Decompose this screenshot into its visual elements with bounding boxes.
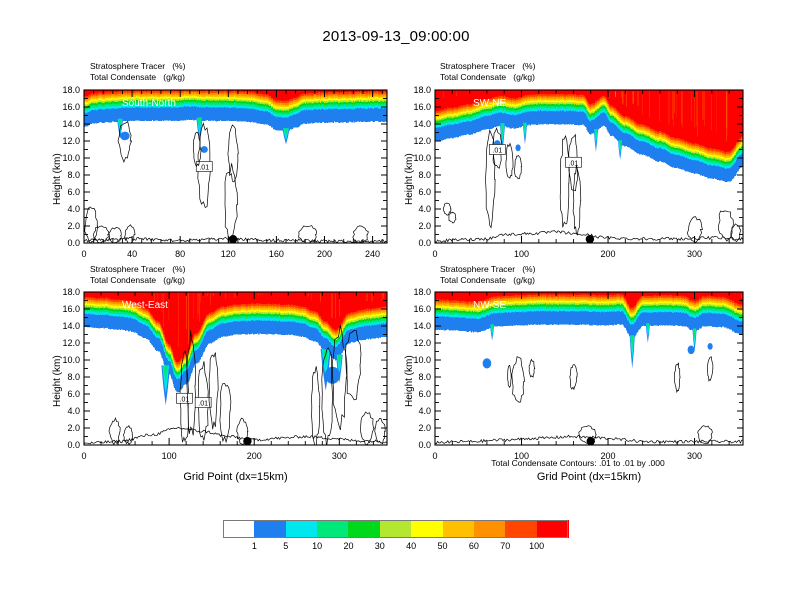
x-tick-label: 100	[514, 249, 529, 259]
header-condensate-line: Total Condensate (g/kg)	[440, 72, 535, 83]
y-tick-label: 12.0	[62, 338, 80, 348]
colorbar-tick-label: 100	[522, 541, 552, 551]
y-tick-label: 16.0	[62, 304, 80, 314]
colorbar-tick-label: 40	[396, 541, 426, 551]
y-tick-label: 0.0	[418, 440, 431, 450]
page-title: 2013-09-13_09:00:00	[0, 28, 792, 45]
site-marker	[229, 235, 237, 243]
y-tick-label: 10.0	[413, 153, 431, 163]
panel-plot-sw-ne: .01.010.02.04.06.08.010.012.014.016.018.…	[395, 84, 749, 259]
panel-header-sw-ne: Stratosphere Tracer (%)Total Condensate …	[440, 61, 535, 82]
y-tick-label: 6.0	[418, 187, 431, 197]
tracer-field: .01.01	[435, 88, 744, 243]
contour-value-label: .01	[492, 148, 502, 155]
y-tick-label: 14.0	[62, 321, 80, 331]
x-axis-label: Grid Point (dx=15km)	[156, 471, 316, 483]
y-tick-label: 14.0	[413, 321, 431, 331]
panel-label-south-north: South-North	[122, 98, 176, 109]
panel-label-nw-se: NW-SE	[473, 300, 506, 311]
y-tick-label: 12.0	[62, 136, 80, 146]
panel-plot-south-north: .010.02.04.06.08.010.012.014.016.018.004…	[44, 84, 393, 259]
y-tick-label: 16.0	[62, 102, 80, 112]
colorbar-frame	[223, 520, 568, 538]
colorbar-tick-label: 10	[302, 541, 332, 551]
colorbar-tick-label: 30	[365, 541, 395, 551]
contour-value-label: .01	[199, 165, 209, 172]
tracer-field	[435, 290, 744, 445]
x-tick-label: 80	[175, 249, 185, 259]
tracer-field: .01.01	[84, 290, 388, 447]
x-tick-label: 160	[269, 249, 284, 259]
x-tick-label: 300	[687, 451, 702, 461]
header-tracer-line: Stratosphere Tracer (%)	[440, 264, 535, 275]
x-tick-label: 240	[365, 249, 380, 259]
y-tick-label: 2.0	[418, 221, 431, 231]
y-tick-label: 8.0	[418, 170, 431, 180]
colorbar: 1510203040506070100	[223, 520, 568, 560]
panel-header-west-east: Stratosphere Tracer (%)Total Condensate …	[90, 264, 185, 285]
x-tick-label: 300	[332, 451, 347, 461]
x-tick-label: 120	[221, 249, 236, 259]
header-condensate-line: Total Condensate (g/kg)	[440, 275, 535, 286]
site-marker	[586, 235, 594, 243]
header-tracer-line: Stratosphere Tracer (%)	[440, 61, 535, 72]
y-tick-label: 16.0	[413, 102, 431, 112]
x-tick-label: 0	[81, 249, 86, 259]
colorbar-tick-label: 70	[490, 541, 520, 551]
x-tick-label: 200	[601, 249, 616, 259]
y-tick-label: 0.0	[67, 440, 80, 450]
y-tick-label: 16.0	[413, 304, 431, 314]
panel-plot-nw-se: 0.02.04.06.08.010.012.014.016.018.001002…	[395, 286, 749, 461]
x-axis-label: Grid Point (dx=15km)	[509, 471, 669, 483]
tracer-field: .01	[84, 88, 388, 246]
x-tick-label: 200	[317, 249, 332, 259]
panel-header-south-north: Stratosphere Tracer (%)Total Condensate …	[90, 61, 185, 82]
contour-value-label: .01	[198, 401, 208, 408]
y-tick-label: 18.0	[413, 287, 431, 297]
header-tracer-line: Stratosphere Tracer (%)	[90, 264, 185, 275]
y-tick-label: 0.0	[418, 238, 431, 248]
panel-label-west-east: West-East	[122, 300, 168, 311]
y-tick-label: 6.0	[418, 389, 431, 399]
colorbar-tick-label: 1	[239, 541, 269, 551]
x-tick-label: 0	[432, 451, 437, 461]
y-tick-label: 12.0	[413, 338, 431, 348]
x-tick-label: 0	[81, 451, 86, 461]
header-condensate-line: Total Condensate (g/kg)	[90, 72, 185, 83]
y-tick-label: 4.0	[418, 406, 431, 416]
y-tick-label: 8.0	[418, 372, 431, 382]
y-tick-label: 8.0	[67, 372, 80, 382]
y-tick-label: 6.0	[67, 389, 80, 399]
y-tick-label: 10.0	[413, 355, 431, 365]
header-tracer-line: Stratosphere Tracer (%)	[90, 61, 185, 72]
y-tick-label: 0.0	[67, 238, 80, 248]
contour-footnote: Total Condensate Contours: .01 to .01 by…	[491, 458, 664, 468]
y-tick-label: 8.0	[67, 170, 80, 180]
y-tick-label: 18.0	[62, 85, 80, 95]
y-tick-label: 18.0	[413, 85, 431, 95]
y-tick-label: 2.0	[67, 221, 80, 231]
y-tick-label: 4.0	[67, 406, 80, 416]
x-tick-label: 0	[432, 249, 437, 259]
header-condensate-line: Total Condensate (g/kg)	[90, 275, 185, 286]
x-tick-label: 100	[162, 451, 177, 461]
y-tick-label: 2.0	[418, 423, 431, 433]
y-tick-label: 10.0	[62, 153, 80, 163]
colorbar-tick-label: 20	[333, 541, 363, 551]
y-tick-label: 18.0	[62, 287, 80, 297]
y-tick-label: 4.0	[67, 204, 80, 214]
site-marker	[243, 437, 251, 445]
y-tick-label: 14.0	[413, 119, 431, 129]
colorbar-tick-label: 50	[428, 541, 458, 551]
y-tick-label: 10.0	[62, 355, 80, 365]
x-tick-label: 300	[687, 249, 702, 259]
colorbar-tick-label: 5	[271, 541, 301, 551]
colorbar-tick-label: 60	[459, 541, 489, 551]
y-tick-label: 4.0	[418, 204, 431, 214]
figure-canvas: 2013-09-13_09:00:00 Stratosphere Tracer …	[0, 0, 792, 612]
y-tick-label: 6.0	[67, 187, 80, 197]
y-tick-label: 14.0	[62, 119, 80, 129]
panel-label-sw-ne: SW-NE	[473, 98, 506, 109]
y-tick-label: 12.0	[413, 136, 431, 146]
y-tick-label: 2.0	[67, 423, 80, 433]
panel-plot-west-east: .01.010.02.04.06.08.010.012.014.016.018.…	[44, 286, 393, 461]
panel-header-nw-se: Stratosphere Tracer (%)Total Condensate …	[440, 264, 535, 285]
x-tick-label: 200	[247, 451, 262, 461]
x-tick-label: 40	[127, 249, 137, 259]
